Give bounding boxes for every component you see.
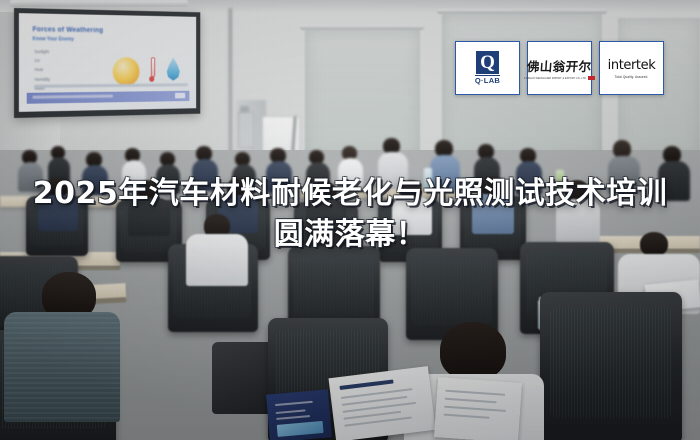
office-chair-foreground-right bbox=[540, 292, 682, 440]
slide-subtitle: Know Your Enemy bbox=[33, 36, 75, 42]
slide-bullet: Heat bbox=[34, 67, 50, 72]
wengkaier-wordmark: 佛山翁开尔 bbox=[527, 56, 593, 75]
qlab-wordmark: Q·LAB bbox=[475, 75, 500, 86]
projector-screen: Forces of Weathering Know Your Enemy Sun… bbox=[14, 8, 200, 118]
water-droplet-icon bbox=[166, 57, 181, 80]
air-purifier bbox=[238, 112, 254, 148]
slide-footnote bbox=[34, 84, 187, 88]
logo-card-intertek: intertek Total Quality. Assured. bbox=[599, 41, 664, 95]
slide-bullet: UV bbox=[34, 58, 50, 63]
window-blind-rail-2 bbox=[437, 9, 607, 14]
event-headline: 2025年汽车材料耐候老化与光照测试技术培训 圆满落幕！ bbox=[0, 176, 700, 253]
headline-line-2: 圆满落幕！ bbox=[0, 217, 700, 252]
screen-support-pole bbox=[228, 8, 232, 158]
slide-bullet: Sunlight bbox=[34, 49, 50, 54]
projector-screen-surface: Forces of Weathering Know Your Enemy Sun… bbox=[19, 13, 196, 112]
handout-right-foreground bbox=[434, 377, 522, 440]
headline-line-1: 2025年汽车材料耐候老化与光照测试技术培训 bbox=[0, 176, 700, 211]
wengkaier-subtext-row: FOSHAN WENGKAIER IMPORT & EXPORT CO.,LTD… bbox=[524, 76, 594, 80]
intertek-wordmark: intertek bbox=[608, 58, 656, 73]
event-photo-banner: Forces of Weathering Know Your Enemy Sun… bbox=[0, 0, 700, 440]
handout-document bbox=[328, 366, 435, 440]
sponsor-logo-row: Q Q·LAB 佛山翁开尔 FOSHAN WENGKAIER IMPORT & … bbox=[455, 41, 664, 95]
sun-icon bbox=[113, 57, 140, 86]
slide-footer-logo bbox=[175, 93, 185, 99]
qlab-mark-icon: Q bbox=[476, 51, 499, 74]
thermometer-icon bbox=[149, 57, 154, 82]
window-blind-1 bbox=[305, 30, 420, 158]
window-blind-rail-1 bbox=[300, 25, 424, 30]
wengkaier-accent-icon bbox=[588, 76, 595, 80]
slide-title: Forces of Weathering bbox=[33, 26, 104, 34]
slide-bullet: Humidity bbox=[34, 76, 50, 81]
qlab-mark-letter: Q bbox=[480, 53, 495, 72]
training-booklet bbox=[266, 389, 332, 440]
intertek-tagline: Total Quality. Assured. bbox=[615, 75, 649, 79]
logo-card-wengkaier: 佛山翁开尔 FOSHAN WENGKAIER IMPORT & EXPORT C… bbox=[527, 41, 592, 95]
logo-card-qlab: Q Q·LAB bbox=[455, 41, 520, 95]
projector-screen-roller bbox=[10, 0, 188, 7]
wengkaier-subtext: FOSHAN WENGKAIER IMPORT & EXPORT CO.,LTD… bbox=[524, 76, 586, 80]
slide-footer bbox=[27, 91, 190, 104]
presentation-slide: Forces of Weathering Know Your Enemy Sun… bbox=[27, 21, 190, 104]
